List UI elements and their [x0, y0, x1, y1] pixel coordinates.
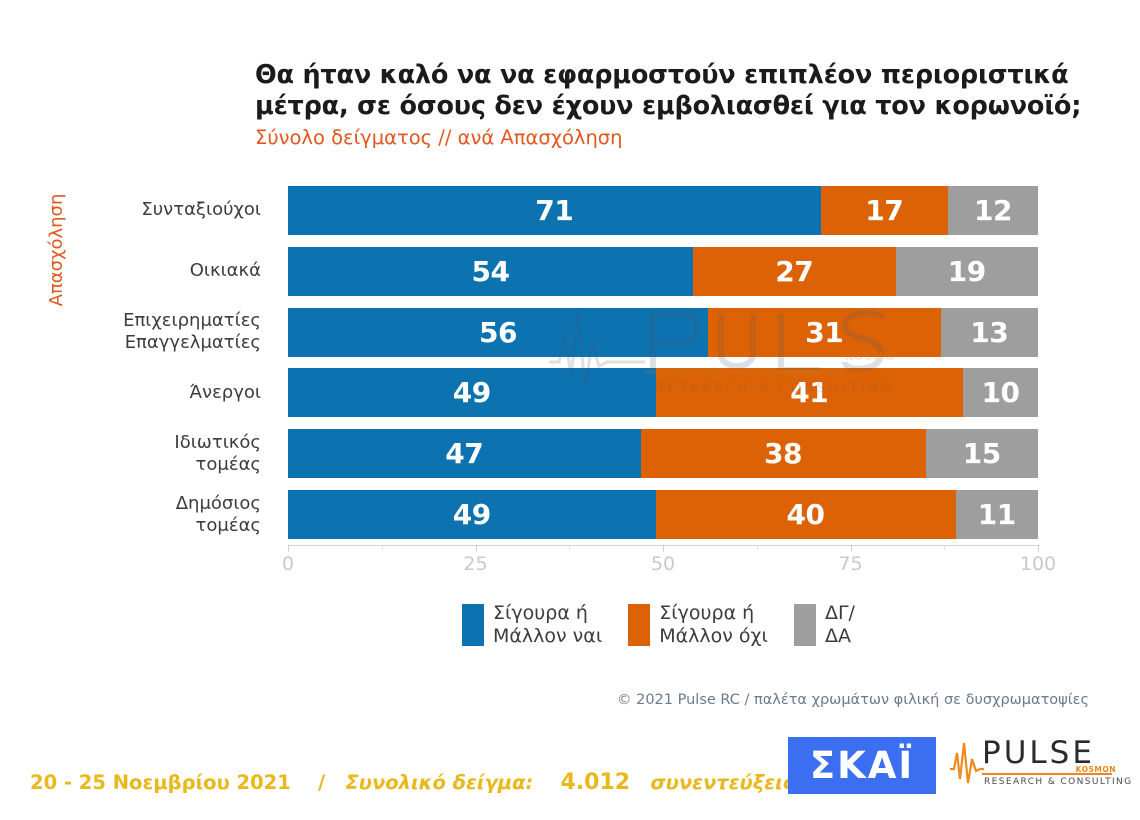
pulse-logo: PULSE KOSMON RESEARCH & CONSULTING — [948, 735, 1116, 795]
legend-item[interactable]: Σίγουρα ή Μάλλον ναι — [462, 602, 602, 648]
y-axis-category-label: Άνεργοι — [61, 382, 261, 404]
bar-segment: 13 — [941, 308, 1039, 357]
bar-value-label: 49 — [453, 498, 491, 531]
x-axis-tick-label: 0 — [282, 553, 294, 575]
plot-area: 711712542719563113494110473815494011 — [288, 180, 1038, 545]
y-axis-category-label: Οικιακά — [61, 260, 261, 282]
bar-segment: 49 — [288, 368, 656, 417]
bar-value-label: 11 — [978, 498, 1016, 531]
bar-value-label: 19 — [948, 255, 986, 288]
bar-value-label: 71 — [535, 194, 573, 227]
legend-swatch — [462, 604, 484, 646]
pulse-tagline: RESEARCH & CONSULTING — [984, 777, 1133, 787]
bar-value-label: 56 — [479, 316, 517, 349]
legend-label: ΔΓ/ ΔΑ — [825, 602, 855, 648]
bar-value-label: 49 — [453, 376, 491, 409]
skai-logo-text: ΣΚΑΪ — [810, 744, 914, 787]
bar-segment: 38 — [641, 429, 926, 478]
chart-canvas: Θα ήταν καλό να να εφαρμοστούν επιπλέον … — [0, 0, 1140, 820]
bar-row: 711712 — [288, 186, 1038, 235]
bar-value-label: 27 — [775, 255, 813, 288]
legend-swatch — [794, 604, 816, 646]
y-axis-tick-labels: ΣυνταξιούχοιΟικιακάΕπιχειρηματίεςΕπαγγελ… — [60, 180, 275, 545]
bar-value-label: 12 — [974, 194, 1012, 227]
bar-segment: 56 — [288, 308, 708, 357]
y-axis-category-label: Δημόσιοςτομέας — [61, 493, 261, 537]
bar-value-label: 38 — [764, 437, 802, 470]
bar-row: 542719 — [288, 247, 1038, 296]
bar-value-label: 54 — [472, 255, 510, 288]
bar-row: 563113 — [288, 308, 1038, 357]
bar-segment: 41 — [656, 368, 964, 417]
x-axis-tick — [288, 545, 289, 552]
credits-note: © 2021 Pulse RC / παλέτα χρωμάτων φιλική… — [617, 692, 1089, 708]
bar-value-label: 17 — [865, 194, 903, 227]
bar-value-label: 15 — [963, 437, 1001, 470]
x-axis-tick-label: 50 — [651, 553, 675, 575]
legend-swatch — [628, 604, 650, 646]
bar-segment: 49 — [288, 490, 656, 539]
x-axis-minor-tick — [382, 545, 383, 550]
y-axis-category-label: Ιδιωτικόςτομέας — [61, 432, 261, 476]
bar-segment: 19 — [896, 247, 1039, 296]
bar-value-label: 41 — [790, 376, 828, 409]
bar-segment: 12 — [948, 186, 1038, 235]
footer-survey-info: 20 - 25 Νοεμβρίου 2021 / Συνολικό δείγμα… — [30, 770, 794, 795]
bar-segment: 71 — [288, 186, 821, 235]
footer-dates: 20 - 25 Νοεμβρίου 2021 — [30, 771, 291, 794]
x-axis-line — [288, 545, 1040, 546]
bar-segment: 47 — [288, 429, 641, 478]
title-block: Θα ήταν καλό να να εφαρμοστούν επιπλέον … — [255, 60, 1055, 149]
chart-title-line-1: Θα ήταν καλό να να εφαρμοστούν επιπλέον … — [255, 60, 1055, 91]
footer-sample-value: 4.012 — [560, 770, 630, 795]
bar-value-label: 40 — [787, 498, 825, 531]
x-axis-tick — [851, 545, 852, 552]
legend: Σίγουρα ή Μάλλον ναιΣίγουρα ή Μάλλον όχι… — [462, 602, 855, 648]
x-axis-tick — [1038, 545, 1039, 552]
bar-value-label: 13 — [970, 316, 1008, 349]
bar-segment: 31 — [708, 308, 941, 357]
pulse-waveform-icon — [948, 739, 984, 785]
bar-row: 494110 — [288, 368, 1038, 417]
bar-segment: 11 — [956, 490, 1039, 539]
bar-segment: 10 — [963, 368, 1038, 417]
x-axis-tick — [663, 545, 664, 552]
chart-title-line-2: μέτρα, σε όσους δεν έχουν εμβολιασθεί γι… — [255, 91, 1055, 122]
bar-segment: 17 — [821, 186, 949, 235]
x-axis-minor-tick — [944, 545, 945, 550]
bar-value-label: 31 — [805, 316, 843, 349]
legend-item[interactable]: Σίγουρα ή Μάλλον όχι — [628, 602, 768, 648]
footer-separator: / — [318, 771, 325, 794]
bar-row: 473815 — [288, 429, 1038, 478]
skai-logo: ΣΚΑΪ — [788, 737, 936, 794]
x-axis-minor-tick — [757, 545, 758, 550]
x-axis-tick-label: 75 — [838, 553, 862, 575]
x-axis-tick-label: 100 — [1020, 553, 1056, 575]
x-axis-tick-label: 25 — [463, 553, 487, 575]
legend-label: Σίγουρα ή Μάλλον ναι — [493, 602, 602, 648]
bar-value-label: 47 — [445, 437, 483, 470]
legend-label: Σίγουρα ή Μάλλον όχι — [659, 602, 768, 648]
bar-segment: 27 — [693, 247, 896, 296]
y-axis-category-label: Συνταξιούχοι — [61, 199, 261, 221]
x-axis-tick — [476, 545, 477, 552]
y-axis-category-label: ΕπιχειρηματίεςΕπαγγελματίες — [61, 310, 261, 354]
bar-segment: 40 — [656, 490, 956, 539]
legend-item[interactable]: ΔΓ/ ΔΑ — [794, 602, 855, 648]
x-axis: 0255075100 — [288, 545, 1040, 585]
bar-value-label: 10 — [982, 376, 1020, 409]
bar-segment: 54 — [288, 247, 693, 296]
footer-sample-unit: συνεντεύξεις — [650, 771, 794, 794]
bar-segment: 15 — [926, 429, 1039, 478]
pulse-divider — [982, 773, 1112, 775]
chart-subtitle: Σύνολο δείγματος // ανά Απασχόληση — [255, 126, 1055, 149]
x-axis-minor-tick — [569, 545, 570, 550]
footer-sample-label: Συνολικό δείγμα: — [345, 771, 533, 794]
bar-row: 494011 — [288, 490, 1038, 539]
